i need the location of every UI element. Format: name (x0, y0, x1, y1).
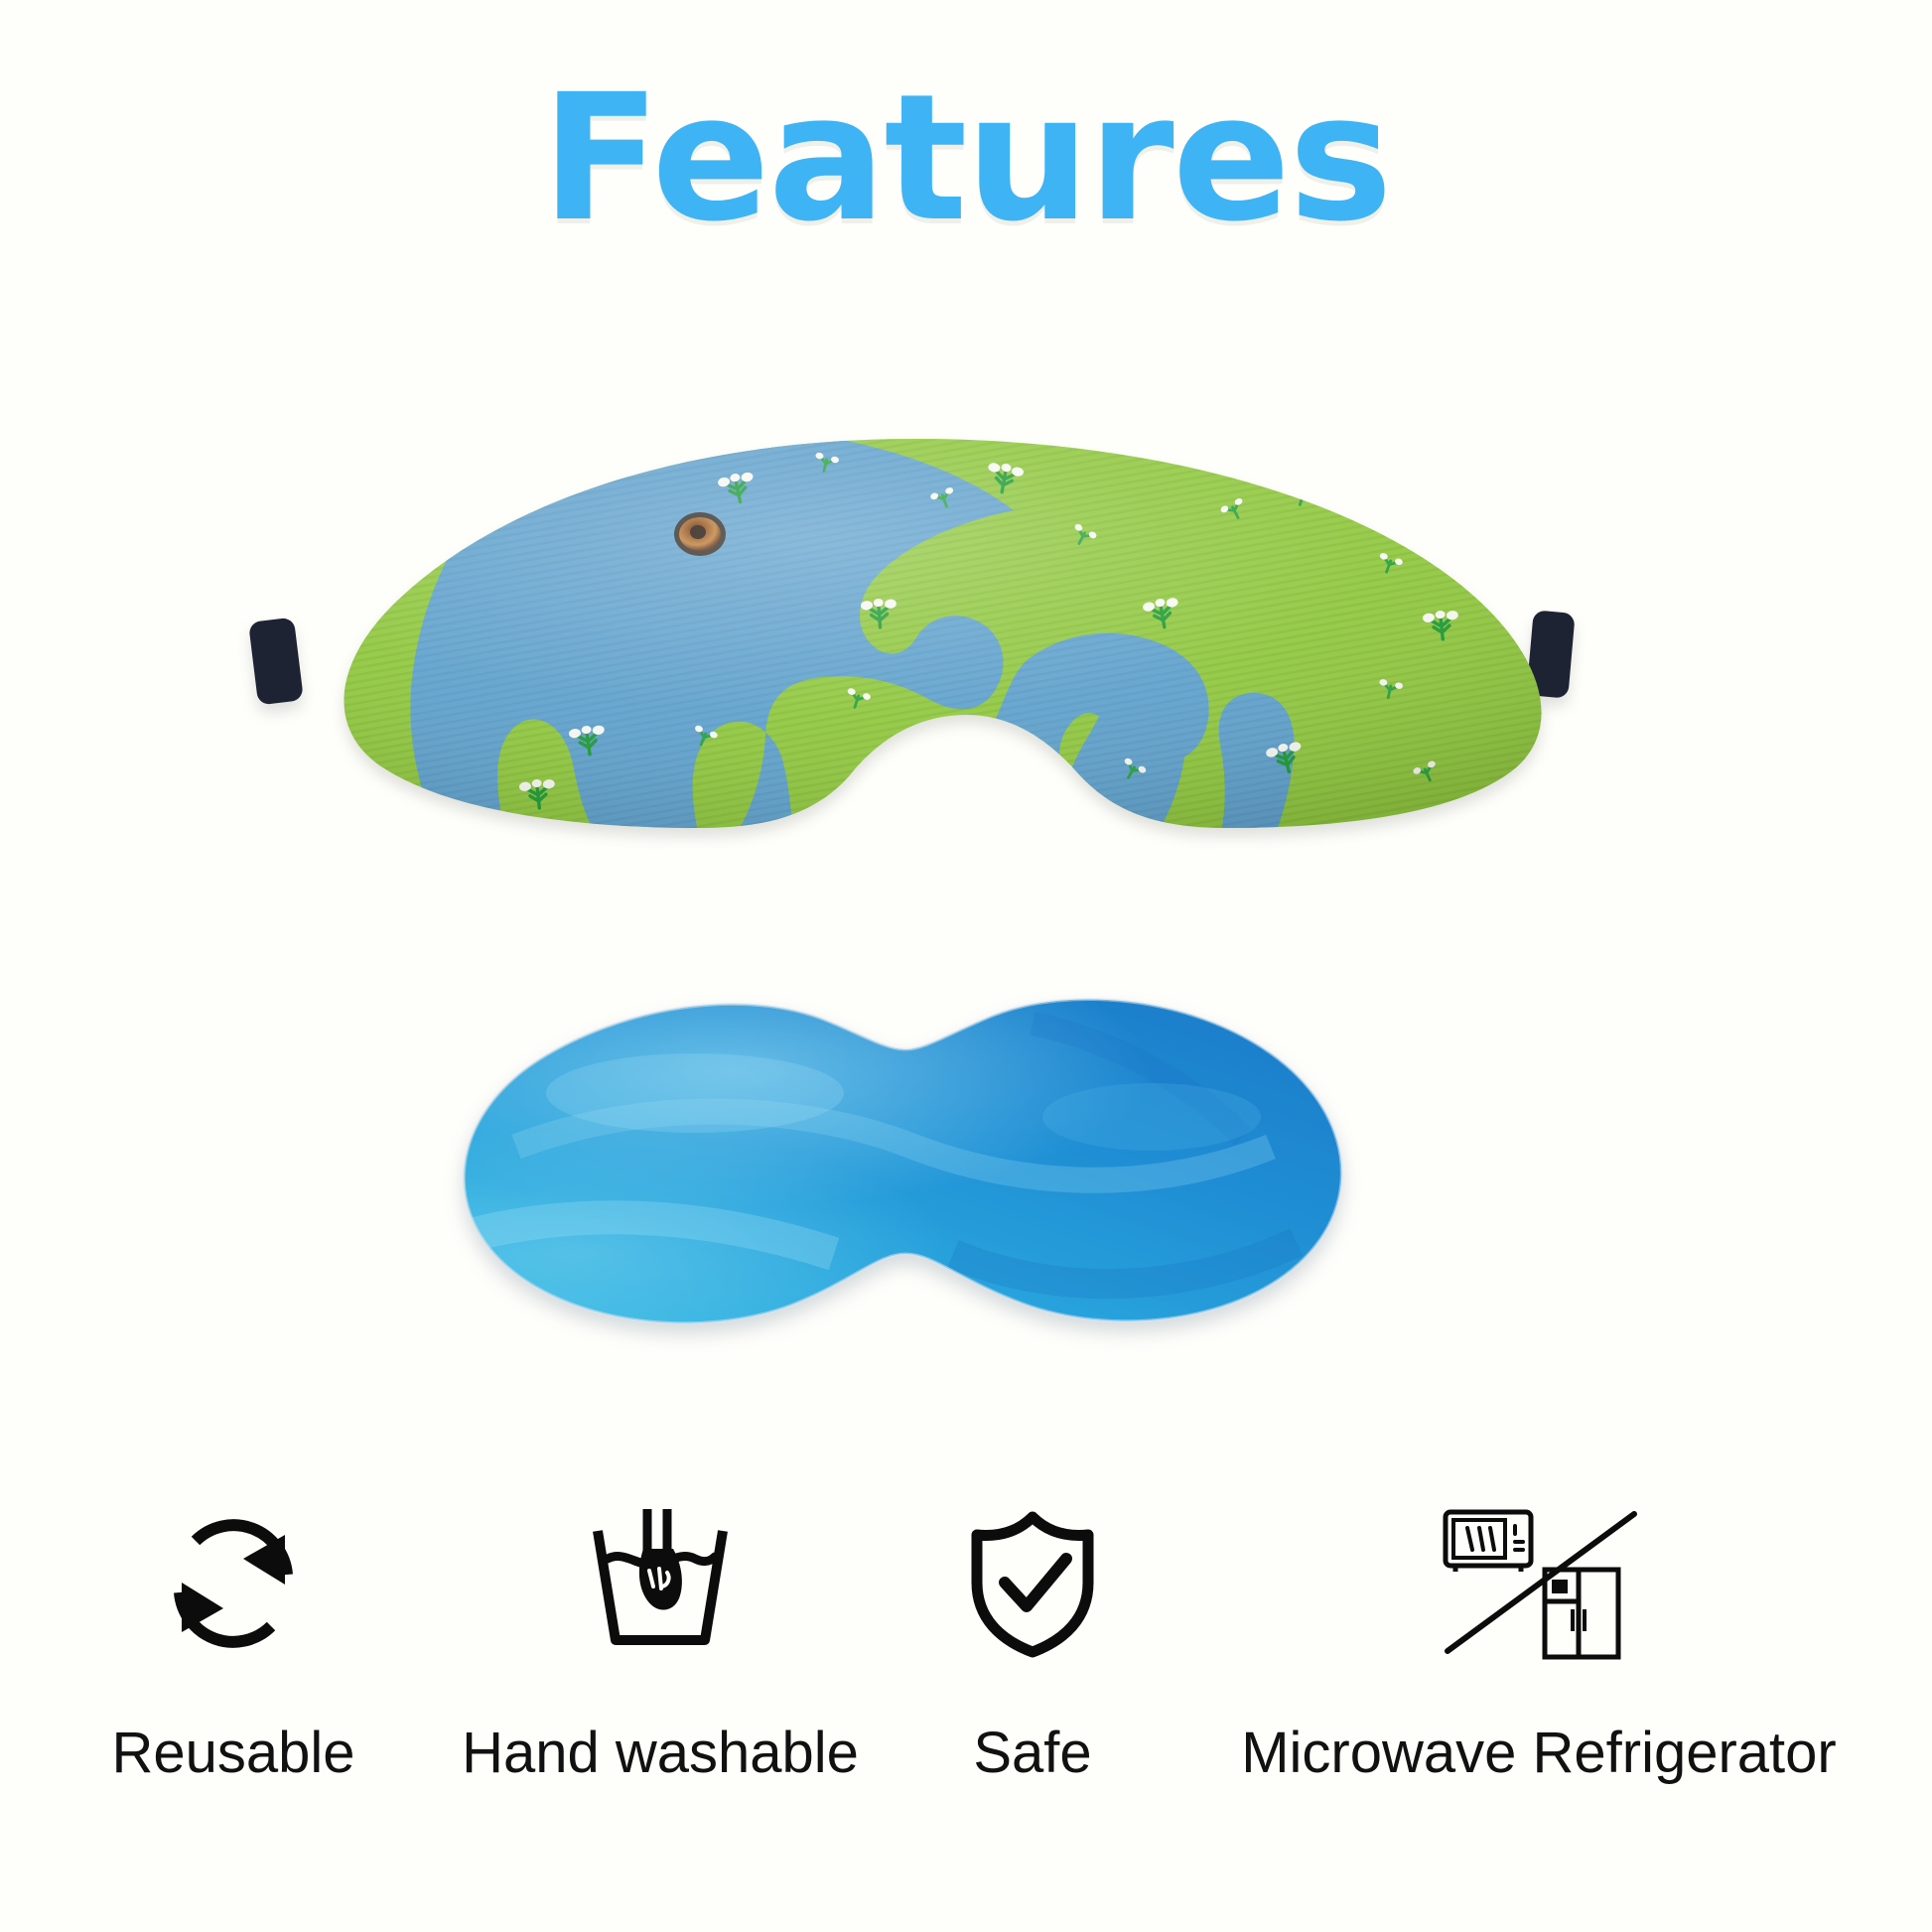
product-feature-poster: Features (0, 0, 1932, 1932)
microwave-refrigerator-icon (1181, 1509, 1896, 1658)
feature-label: Microwave Refrigerator (1181, 1720, 1896, 1786)
feature-item-hand-washable: Hand washable (452, 1509, 869, 1786)
shield-check-icon (898, 1509, 1167, 1658)
feature-label: Hand washable (452, 1720, 869, 1786)
page-title: Features (0, 71, 1932, 246)
eye-mask-body (271, 409, 1562, 951)
diagonal-slash (1448, 1514, 1634, 1651)
eye-mask-product-image (271, 435, 1562, 812)
gel-pad-product-image (397, 998, 1390, 1325)
feature-label: Safe (898, 1720, 1167, 1786)
hand-wash-basin-icon (452, 1509, 869, 1658)
feature-list: Reusable Hand washable (0, 1509, 1932, 1866)
feature-label: Reusable (40, 1720, 427, 1786)
refrigerator-icon (1545, 1570, 1618, 1657)
feature-item-microwave-refrigerator: Microwave Refrigerator (1181, 1509, 1896, 1786)
recycle-loop-icon (40, 1509, 427, 1658)
microwave-icon (1446, 1512, 1531, 1572)
feature-item-safe: Safe (898, 1509, 1167, 1786)
mask-shading (271, 435, 1562, 832)
feature-item-reusable: Reusable (40, 1509, 427, 1786)
strap-tab-left (248, 618, 304, 706)
